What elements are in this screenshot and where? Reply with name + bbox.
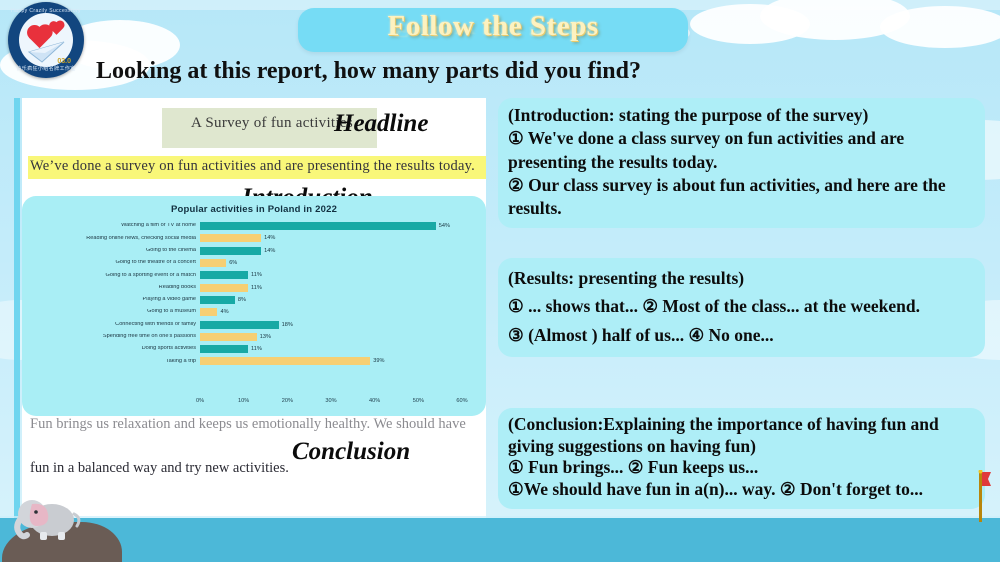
chart-bar-row: Watching a film or TV at home54% [32, 220, 476, 232]
chart-bar [200, 345, 248, 353]
chart-category-label: Taking a trip [32, 359, 200, 365]
chart-bar-row: Going to the theatre or a concert6% [32, 257, 476, 269]
chart-axis-tick: 60% [456, 398, 467, 404]
chart-bar [200, 222, 436, 230]
chart-category-label: Going to a sporting event or a match [32, 273, 200, 279]
chart-bar-row: Going to the cinema14% [32, 245, 476, 257]
chart-bar [200, 308, 217, 316]
chart-value-label: 11% [251, 272, 262, 278]
chart-category-label: Playing a video game [32, 297, 200, 303]
cloud-icon [880, 6, 1000, 48]
water-band [0, 518, 1000, 562]
logo-badge-number: 03.0 [57, 58, 71, 65]
chart-bar [200, 357, 370, 365]
chart-axis-tick: 10% [238, 398, 249, 404]
chart-bar-wrap: 54% [200, 220, 476, 232]
slide-canvas: Happy Crazily Successtory 快乐疯狂小组名牌工作室 03… [0, 0, 1000, 562]
flag-icon [970, 470, 992, 522]
chart-bar-row: Reading books11% [32, 281, 476, 293]
chart-bar-wrap: 6% [200, 257, 476, 269]
chart-bar-row: Taking a trip39% [32, 355, 476, 367]
elephant-icon [12, 494, 82, 540]
note-results-heading: (Results: presenting the results) [508, 264, 975, 292]
chart-axis-tick: 0% [196, 398, 204, 404]
chart-value-label: 13% [260, 334, 271, 340]
chart-bar [200, 321, 279, 329]
chart-category-label: Watching a film or TV at home [32, 223, 200, 229]
chart-bar [200, 296, 235, 304]
note-intro-line2: ② Our class survey is about fun activiti… [508, 174, 975, 221]
note-results-line1: ① ... shows that... ② Most of the class.… [508, 292, 975, 320]
chart-bar-wrap: 8% [200, 294, 476, 306]
note-conclusion-line1: ① Fun brings... ② Fun keeps us... [508, 457, 975, 479]
chart-bar-wrap: 11% [200, 281, 476, 293]
doc-introduction-text: We’ve done a survey on fun activities an… [30, 158, 475, 175]
chart-category-label: Spending free time on one's passions [32, 334, 200, 340]
chart-category-label: Going to the cinema [32, 248, 200, 254]
chart-bar-wrap: 4% [200, 306, 476, 318]
chart-bar [200, 271, 248, 279]
note-conclusion-heading: (Conclusion:Explaining the importance of… [508, 414, 975, 457]
left-accent-strip [14, 98, 20, 518]
chart-bar-wrap: 18% [200, 318, 476, 330]
annotation-conclusion: Conclusion [292, 438, 410, 466]
note-intro-line1: ① We've done a class survey on fun activ… [508, 127, 975, 174]
chart-x-axis: 0%10%20%30%40%50%60% [200, 398, 462, 410]
chart-bar-row: Doing sports activities11% [32, 343, 476, 355]
chart-plot-area: Watching a film or TV at home54%Reading … [32, 220, 476, 398]
logo-badge: Happy Crazily Successtory 快乐疯狂小组名牌工作室 03… [8, 2, 84, 78]
chart-card: Popular activities in Poland in 2022 Wat… [22, 196, 486, 416]
chart-value-label: 39% [373, 358, 384, 364]
chart-bar-row: Going to a sporting event or a match11% [32, 269, 476, 281]
note-card-results: (Results: presenting the results) ① ... … [498, 258, 985, 357]
chart-value-label: 4% [220, 309, 228, 315]
logo-text-top: Happy Crazily Successtory [8, 8, 84, 14]
chart-bar-wrap: 14% [200, 232, 476, 244]
chart-value-label: 18% [282, 322, 293, 328]
note-card-introduction: (Introduction: stating the purpose of th… [498, 98, 985, 228]
note-conclusion-line2: ①We should have fun in a(n)... way. ② Do… [508, 479, 975, 501]
chart-axis-tick: 30% [325, 398, 336, 404]
chart-bar-wrap: 39% [200, 355, 476, 367]
chart-bar-wrap: 11% [200, 269, 476, 281]
chart-axis-tick: 40% [369, 398, 380, 404]
chart-category-label: Connecting with friends or family [32, 322, 200, 328]
chart-bar-wrap: 14% [200, 245, 476, 257]
chart-category-label: Reading online news, checking social med… [32, 236, 200, 242]
chart-value-label: 14% [264, 248, 275, 254]
chart-title: Popular activities in Poland in 2022 [22, 204, 486, 215]
chart-bar-row: Going to a museum4% [32, 306, 476, 318]
chart-bar-wrap: 11% [200, 343, 476, 355]
chart-bar-row: Spending free time on one's passions13% [32, 331, 476, 343]
chart-bar-row: Reading online news, checking social med… [32, 232, 476, 244]
doc-conclusion-line2: fun in a balanced way and try new activi… [30, 460, 289, 477]
chart-bar [200, 247, 261, 255]
question-text: Looking at this report, how many parts d… [96, 58, 641, 85]
chart-value-label: 6% [229, 260, 237, 266]
chart-bar [200, 284, 248, 292]
chart-value-label: 11% [251, 346, 262, 352]
note-card-conclusion: (Conclusion:Explaining the importance of… [498, 408, 985, 509]
chart-category-label: Reading books [32, 285, 200, 291]
annotation-headline: Headline [334, 110, 428, 138]
chart-value-label: 11% [251, 285, 262, 291]
chart-category-label: Going to the theatre or a concert [32, 260, 200, 266]
chart-bar-wrap: 13% [200, 331, 476, 343]
chart-bar-row: Playing a video game8% [32, 294, 476, 306]
chart-axis-tick: 50% [413, 398, 424, 404]
note-results-line2: ③ (Almost ) half of us... ④ No one... [508, 321, 975, 349]
chart-bar [200, 333, 257, 341]
chart-bar [200, 259, 226, 267]
chart-bar [200, 234, 261, 242]
note-intro-heading: (Introduction: stating the purpose of th… [508, 104, 975, 127]
chart-category-label: Going to a museum [32, 309, 200, 315]
page-title: Follow the Steps [298, 10, 688, 43]
chart-value-label: 8% [238, 297, 246, 303]
chart-value-label: 54% [439, 223, 450, 229]
logo-text-bottom: 快乐疯狂小组名牌工作室 [8, 65, 84, 72]
doc-conclusion-line1: Fun brings us relaxation and keeps us em… [30, 416, 466, 433]
chart-value-label: 14% [264, 235, 275, 241]
chart-category-label: Doing sports activities [32, 346, 200, 352]
chart-bar-row: Connecting with friends or family18% [32, 318, 476, 330]
chart-axis-tick: 20% [282, 398, 293, 404]
